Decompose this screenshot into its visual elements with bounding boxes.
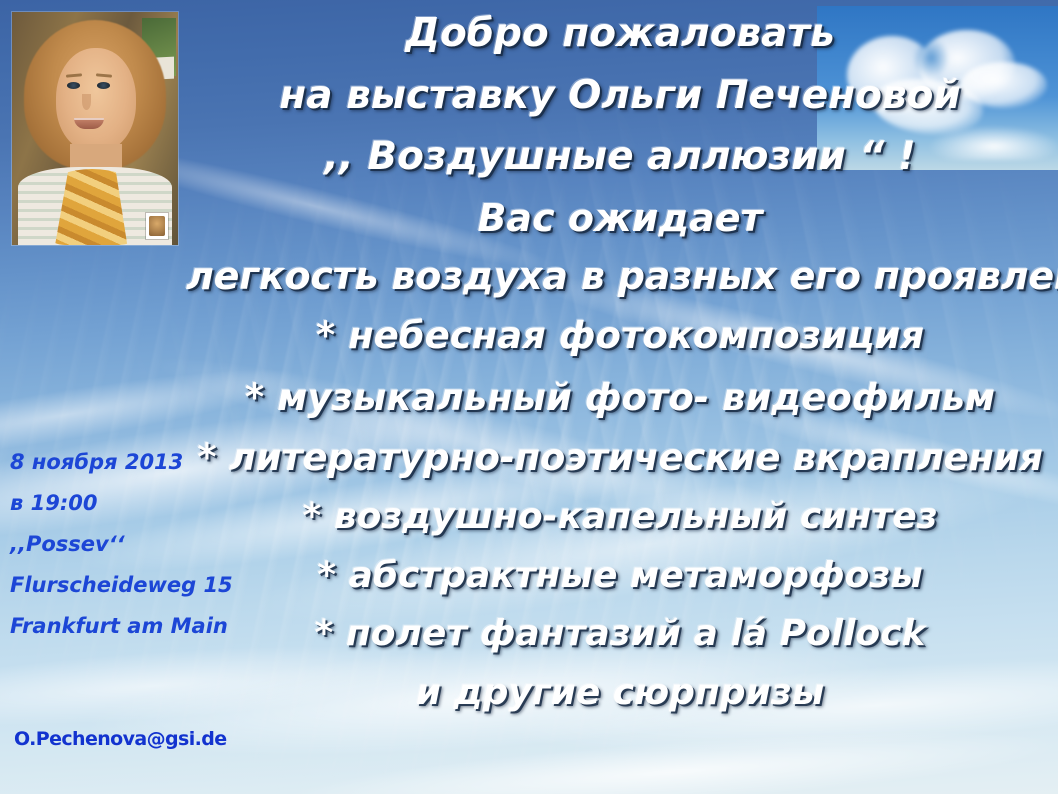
headline-line-other-surprises: и другие сюрпризы — [186, 675, 1054, 712]
info-line-city: Frankfurt am Main — [10, 616, 310, 637]
headline-line-title: ,, Воздушные аллюзии “ ! — [186, 137, 1054, 177]
portrait-badge-image — [149, 216, 165, 236]
headline-line-awaits: Вас ожидает — [186, 199, 1054, 238]
invitation-poster: Добро пожаловать на выставку Ольги Печен… — [0, 0, 1058, 794]
list-item-airdrop-synthesis: * воздушно-капельный синтез — [186, 499, 1054, 536]
headline-line-exhibition: на выставку Ольги Печеновой — [186, 76, 1054, 116]
info-line-date: 8 ноября 2013 — [10, 452, 310, 473]
event-info-block: 8 ноября 2013 в 19:00 ,,Possev‘‘ Flursch… — [10, 452, 310, 657]
contact-email[interactable]: O.Pechenova@gsi.de — [14, 728, 227, 750]
info-line-street: Flurscheideweg 15 — [10, 575, 310, 596]
headline-line-lightness: легкость воздуха в разных его проявления… — [186, 257, 1054, 296]
headline-line-welcome: Добро пожаловать — [186, 14, 1054, 54]
list-item-pollock-fantasy: * полет фантазий а lá Pollock — [186, 616, 1054, 653]
info-line-venue: ,,Possev‘‘ — [10, 534, 310, 555]
list-item-abstract-metamorphoses: * абстрактные метаморфозы — [186, 558, 1054, 595]
portrait-eye-left — [67, 82, 80, 89]
info-line-time: в 19:00 — [10, 493, 310, 514]
portrait-badge — [146, 213, 168, 239]
portrait-photo — [12, 12, 178, 245]
portrait-nose — [82, 94, 91, 110]
list-item-sky-photocomposition: * небесная фотокомпозиция — [186, 317, 1054, 355]
portrait-eye-right — [97, 82, 110, 89]
portrait-face — [56, 48, 136, 152]
headline-text-block: Добро пожаловать на выставку Ольги Печен… — [186, 14, 1054, 716]
list-item-literary-poetic: * литературно-поэтические вкрапления — [186, 439, 1054, 477]
list-item-musical-photo-video: * музыкальный фото- видеофильм — [186, 379, 1054, 417]
